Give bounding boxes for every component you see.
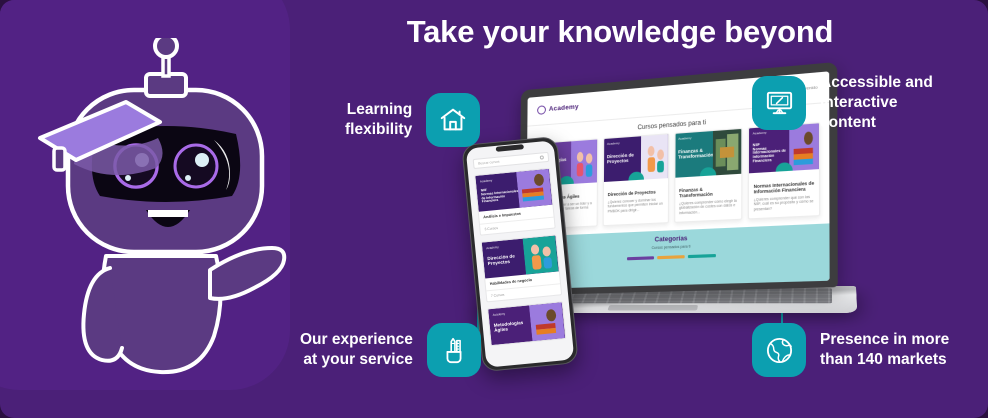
feature-accessible-content[interactable]: Accessible and interactive content: [752, 73, 933, 132]
card-brand: Academy: [486, 245, 499, 250]
card-thumb-title: Finanzas & Transformación: [678, 146, 715, 159]
card-thumb-title: Dirección de Proyectos: [607, 151, 642, 164]
search-placeholder: Buscar cursos: [478, 160, 500, 166]
search-icon: [540, 155, 544, 159]
card-illustration-icon: [517, 169, 553, 208]
card-thumb-title: Dirección de Proyectos: [487, 252, 527, 266]
card-illustration-icon: [713, 129, 741, 175]
globe-icon: [752, 323, 806, 377]
graduation-robot-mascot: [18, 38, 303, 408]
card-brand: Academy: [480, 178, 493, 183]
laptop-trackpad: [607, 305, 698, 310]
course-card[interactable]: Academy Dirección de Proyectos Dirección…: [602, 133, 668, 226]
academy-logo[interactable]: Academy: [537, 103, 579, 116]
course-description: ¿Quieres comprender qué son las NIIF, cu…: [754, 194, 815, 212]
course-title: Dirección de Proyectos: [608, 189, 664, 197]
card-thumb-title: NIIF Normas Internacionales de Informaci…: [481, 186, 521, 205]
academy-logo-text: Academy: [549, 104, 579, 114]
phone-screen: Buscar cursos Academy NIIF Normas Intern…: [466, 140, 575, 367]
course-thumbnail: Academy Dirección de Proyectos: [482, 236, 559, 279]
course-thumbnail: Academy NIIF Normas Internacionales de I…: [475, 169, 552, 212]
monitor-icon: [752, 76, 806, 130]
course-card[interactable]: Academy NIIF Normas Internacionales de I…: [748, 122, 820, 220]
course-title: Normas Internacionales de Información Fi…: [754, 180, 815, 194]
card-brand: Academy: [493, 312, 506, 317]
feature-label: Our experience at your service: [300, 330, 413, 370]
feature-learning-flexibility[interactable]: Learning flexibility: [345, 93, 480, 147]
card-thumb-title: Metodologías Ágiles: [493, 319, 533, 333]
course-card-body: Normas Internacionales de Información Fi…: [749, 169, 819, 219]
course-thumbnail: Academy Finanzas & Transformación: [675, 129, 742, 178]
phone-course-card[interactable]: Academy Dirección de Proyectos Habilidad…: [481, 234, 562, 302]
category-tabs[interactable]: [627, 254, 716, 260]
page-title: Take your knowledge beyond: [300, 14, 940, 50]
course-thumbnail: Academy Dirección de Proyectos: [604, 134, 668, 182]
course-description: ¿Quieres comprender cómo elegir la globa…: [679, 198, 737, 215]
categories-heading: Categorías: [655, 236, 688, 244]
course-thumbnail: Academy Metodologías Ágiles: [488, 302, 565, 345]
phone-course-card[interactable]: Academy Metodologías Ágiles: [487, 301, 566, 346]
course-card-body: Finanzas & Transformación ¿Quieres compr…: [675, 173, 742, 221]
course-card-body: Dirección de Proyectos ¿Quieres conocer …: [603, 178, 667, 220]
feature-label: Presence in more than 140 markets: [820, 330, 949, 370]
course-card[interactable]: Academy Finanzas & Transformación: [674, 127, 743, 223]
category-tab[interactable]: [688, 254, 716, 258]
search-input[interactable]: Buscar cursos: [473, 152, 550, 169]
promo-banner: Take your knowledge beyond Academy Mi Pe…: [0, 0, 988, 418]
phone-course-card[interactable]: Academy NIIF Normas Internacionales de I…: [474, 168, 555, 236]
course-description: ¿Quieres conocer y dominar los fundament…: [608, 197, 664, 214]
card-illustration-icon: [529, 302, 565, 341]
category-tab[interactable]: [657, 255, 685, 259]
pen-cup-icon: [427, 323, 481, 377]
feature-label: Accessible and interactive content: [820, 73, 933, 132]
academy-logo-icon: [537, 105, 546, 115]
card-illustration-icon: [640, 134, 667, 179]
feature-presence-markets[interactable]: Presence in more than 140 markets: [752, 323, 949, 377]
card-brand: Academy: [607, 141, 620, 146]
categories-section: Categorías Cursos pensados para ti: [526, 223, 830, 289]
course-title: Finanzas & Transformación: [679, 184, 737, 198]
category-tab[interactable]: [627, 256, 654, 260]
card-brand: Academy: [678, 135, 691, 140]
card-illustration-icon: [523, 236, 559, 275]
card-thumb-title: NIIF Normas Internacionales de Informaci…: [753, 141, 791, 165]
house-icon: [426, 93, 480, 147]
feature-our-experience[interactable]: Our experience at your service: [300, 323, 481, 377]
categories-subheading: Cursos pensados para ti: [652, 244, 691, 250]
card-illustration-icon: [571, 139, 597, 183]
feature-label: Learning flexibility: [345, 100, 412, 140]
